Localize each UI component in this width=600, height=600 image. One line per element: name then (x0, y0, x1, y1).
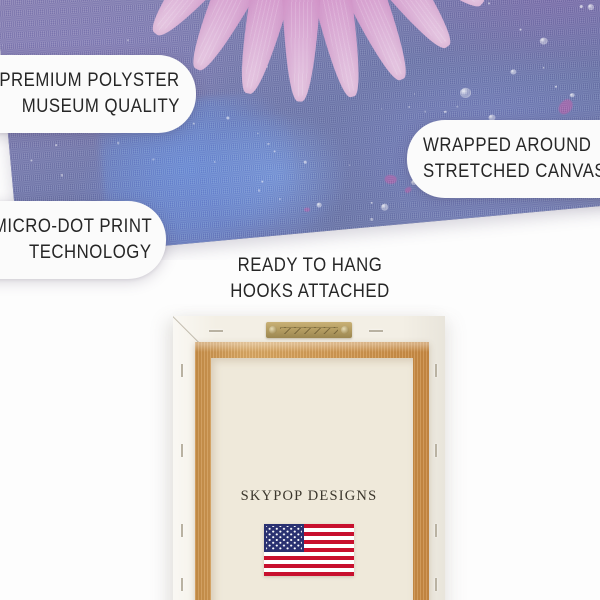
staple (435, 444, 437, 457)
product-feature-sheet: PREMIUM POLYSTER MUSEUM QUALITY WRAPPED … (0, 0, 600, 600)
water-droplet (316, 203, 321, 208)
blue-watercolor-blob-secondary (199, 107, 350, 242)
sawtooth-hanger-icon (266, 322, 352, 338)
feature-wrapped-line1: WRAPPED AROUND (423, 133, 591, 159)
water-speck (580, 5, 583, 8)
water-speck (226, 116, 229, 119)
flag-stripe (264, 556, 354, 560)
water-speck (555, 86, 557, 88)
staple (435, 364, 437, 377)
us-flag-icon (264, 524, 354, 576)
staple (435, 578, 437, 591)
water-speck (274, 150, 276, 152)
feature-caption-ready-to-hang: READY TO HANG HOOKS ATTACHED (210, 252, 410, 304)
feature-microdot-line1: MICRO-DOT PRINT (0, 214, 152, 240)
brand-label: SKYPOP DESIGNS (173, 488, 445, 505)
water-droplet (587, 4, 593, 10)
feature-card-microdot: MICRO-DOT PRINT TECHNOLOGY (0, 201, 166, 279)
water-speck (60, 174, 62, 176)
water-speck (408, 106, 410, 108)
water-speck (55, 144, 57, 146)
water-speck (279, 198, 281, 200)
water-speck (2, 44, 3, 45)
water-speck (370, 218, 373, 221)
feature-premium-line2: MUSEUM QUALITY (22, 94, 180, 120)
feature-card-premium: PREMIUM POLYSTER MUSEUM QUALITY (0, 55, 196, 133)
staple (181, 364, 183, 377)
water-speck (349, 164, 350, 165)
staple (209, 330, 223, 332)
staple (181, 524, 183, 537)
petal-fleck (304, 207, 310, 211)
feature-wrapped-line2: STRETCHED CANVAS (423, 159, 600, 185)
water-droplet (381, 204, 389, 211)
feature-ready-line2: HOOKS ATTACHED (224, 278, 396, 304)
hanger-teeth (280, 327, 338, 334)
staple (435, 524, 437, 537)
hanger-screw-left (269, 326, 277, 334)
canvas-back-view: SKYPOP DESIGNS (173, 316, 445, 600)
hanger-screw-right (341, 326, 349, 334)
feature-premium-line1: PREMIUM POLYSTER (0, 68, 180, 94)
water-speck (424, 111, 425, 112)
flag-stripe (264, 572, 354, 576)
feature-microdot-line2: TECHNOLOGY (29, 240, 152, 266)
water-speck (456, 105, 458, 107)
staple (181, 578, 183, 591)
flag-stripe (264, 564, 354, 568)
feature-ready-line1: READY TO HANG (224, 252, 396, 278)
feature-card-wrapped: WRAPPED AROUND STRETCHED CANVAS (407, 120, 600, 198)
flag-union (264, 524, 304, 552)
staple (369, 330, 383, 332)
flag-stars (266, 526, 302, 550)
staple (181, 444, 183, 457)
water-speck (303, 161, 306, 164)
water-speck (488, 3, 490, 5)
